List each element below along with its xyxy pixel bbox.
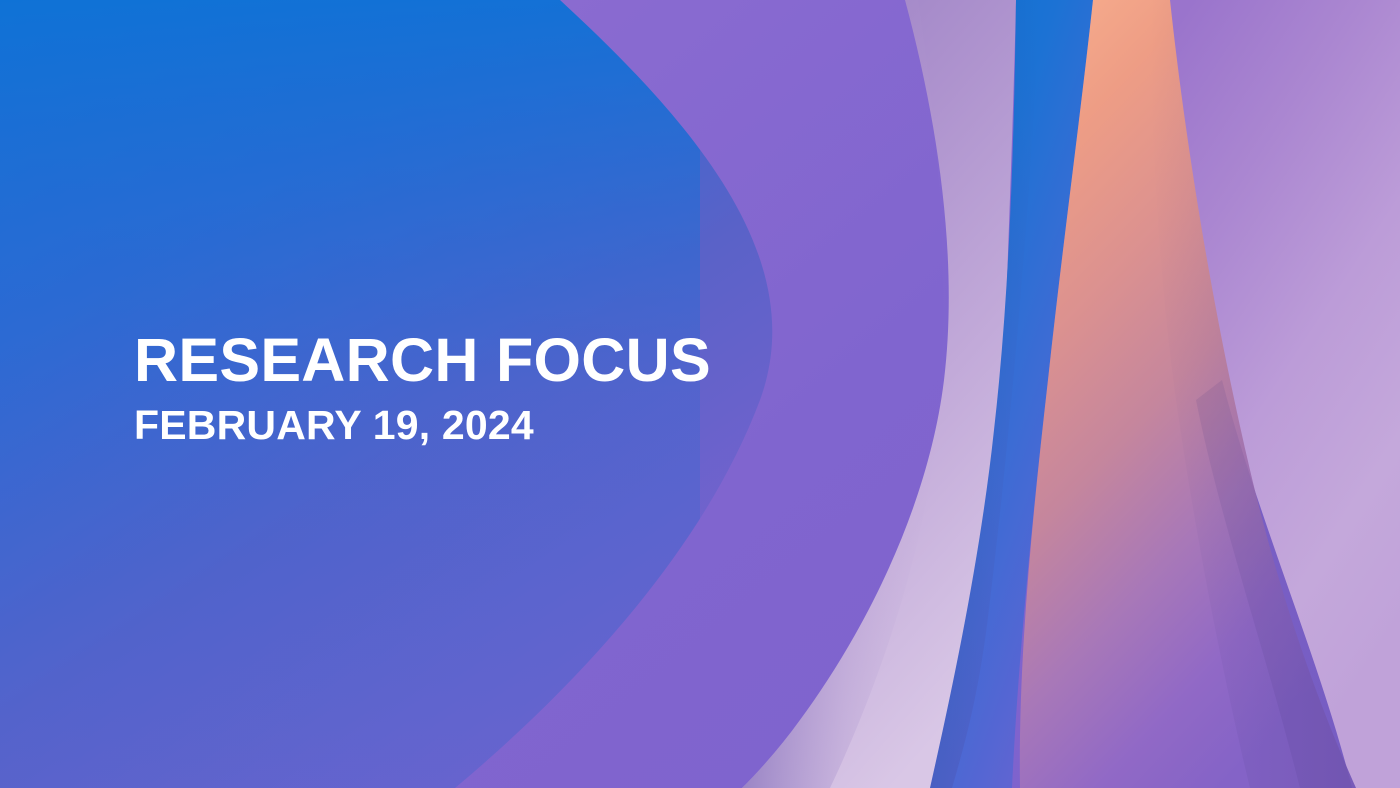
- banner-text-block: RESEARCH FOCUS FEBRUARY 19, 2024: [134, 330, 711, 446]
- page-title: RESEARCH FOCUS: [134, 330, 711, 391]
- page-subtitle-date: FEBRUARY 19, 2024: [134, 405, 711, 446]
- research-focus-banner: RESEARCH FOCUS FEBRUARY 19, 2024: [0, 0, 1400, 788]
